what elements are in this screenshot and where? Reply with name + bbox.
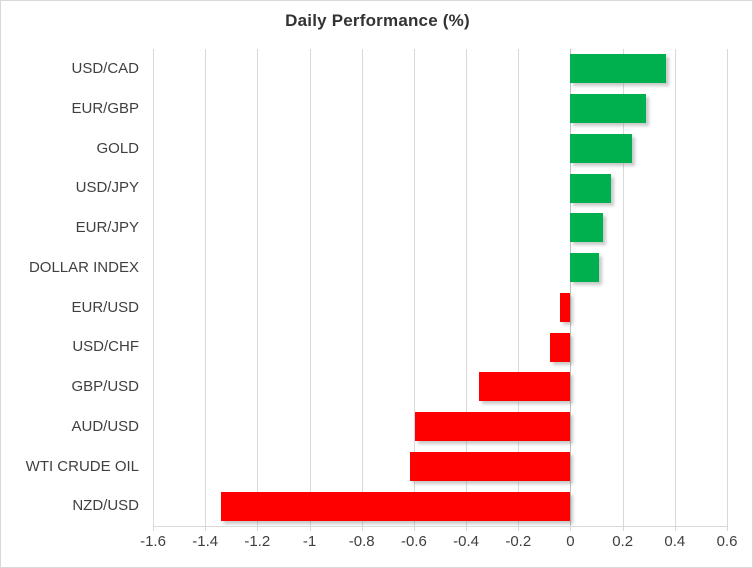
x-axis-label-0.6: 0.6 [717, 533, 738, 550]
bar-nzd-usd[interactable] [221, 492, 571, 521]
category-label-dollar-index: DOLLAR INDEX [29, 248, 139, 288]
bar-row [153, 367, 727, 407]
category-label-nzd-usd: NZD/USD [72, 486, 139, 526]
bar-dollar-index[interactable] [570, 253, 599, 282]
category-label-gold: GOLD [96, 129, 139, 169]
x-tick--0.2 [518, 526, 519, 531]
x-axis-line [153, 526, 728, 527]
bar-row [153, 447, 727, 487]
category-label-wti-crude-oil: WTI CRUDE OIL [26, 447, 139, 487]
bar-gold[interactable] [570, 134, 631, 163]
x-tick-0.2 [623, 526, 624, 531]
category-label-usd-chf: USD/CHF [72, 327, 139, 367]
bar-row [153, 129, 727, 169]
x-axis-label--1: -1 [303, 533, 316, 550]
x-axis-label-0.4: 0.4 [664, 533, 685, 550]
x-tick--0.6 [414, 526, 415, 531]
x-axis-label--0.6: -0.6 [401, 533, 427, 550]
x-axis-label--1.6: -1.6 [140, 533, 166, 550]
bar-row [153, 49, 727, 89]
bar-row [153, 407, 727, 447]
x-tick-0.4 [675, 526, 676, 531]
x-tick--1.2 [257, 526, 258, 531]
chart-title: Daily Performance (%) [1, 11, 753, 31]
x-tick--1.4 [205, 526, 206, 531]
plot-area [153, 49, 727, 526]
x-axis-label--0.8: -0.8 [349, 533, 375, 550]
bar-eur-usd[interactable] [560, 293, 570, 322]
bar-row [153, 486, 727, 526]
bar-row [153, 168, 727, 208]
category-label-eur-jpy: EUR/JPY [76, 208, 139, 248]
category-label-aud-usd: AUD/USD [71, 407, 139, 447]
x-tick--1.6 [153, 526, 154, 531]
x-axis-label--1.4: -1.4 [192, 533, 218, 550]
x-axis-label--0.2: -0.2 [505, 533, 531, 550]
x-axis-label--0.4: -0.4 [453, 533, 479, 550]
bar-aud-usd[interactable] [415, 412, 570, 441]
gridline-0.6 [727, 49, 728, 526]
daily-performance-chart: Daily Performance (%) USD/CADEUR/GBPGOLD… [0, 0, 753, 568]
category-label-eur-usd: EUR/USD [71, 288, 139, 328]
bar-row [153, 89, 727, 129]
bar-usd-cad[interactable] [570, 54, 665, 83]
category-axis: USD/CADEUR/GBPGOLDUSD/JPYEUR/JPYDOLLAR I… [1, 49, 147, 526]
category-label-gbp-usd: GBP/USD [71, 367, 139, 407]
x-axis-label-0.2: 0.2 [612, 533, 633, 550]
bar-wti-crude-oil[interactable] [410, 452, 570, 481]
bar-row [153, 288, 727, 328]
x-tick--0.4 [466, 526, 467, 531]
bar-row [153, 208, 727, 248]
bar-row [153, 327, 727, 367]
bar-row [153, 248, 727, 288]
x-axis-label--1.2: -1.2 [244, 533, 270, 550]
bar-usd-chf[interactable] [550, 333, 571, 362]
x-tick-0.6 [727, 526, 728, 531]
x-tick--1 [310, 526, 311, 531]
bar-usd-jpy[interactable] [570, 174, 610, 203]
x-tick-0 [570, 526, 571, 531]
category-label-usd-jpy: USD/JPY [76, 168, 139, 208]
x-tick--0.8 [362, 526, 363, 531]
bar-eur-jpy[interactable] [570, 213, 603, 242]
category-label-eur-gbp: EUR/GBP [71, 89, 139, 129]
bar-eur-gbp[interactable] [570, 94, 646, 123]
category-label-usd-cad: USD/CAD [71, 49, 139, 89]
x-axis-label-0: 0 [566, 533, 574, 550]
bar-gbp-usd[interactable] [479, 372, 570, 401]
